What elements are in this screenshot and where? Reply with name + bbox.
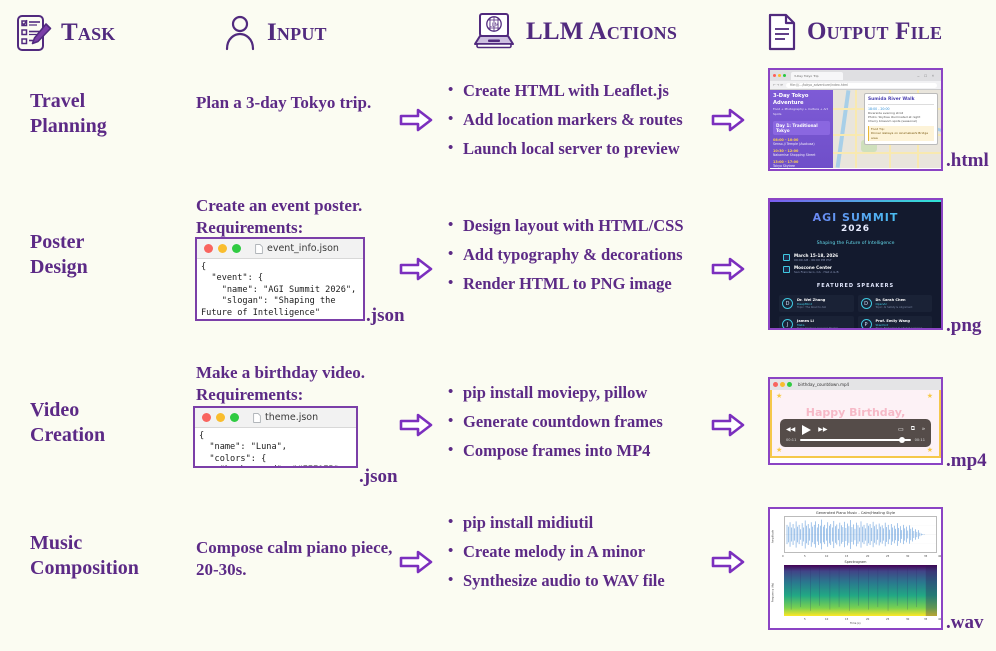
- action-item: Add location markers & routes: [447, 105, 737, 134]
- code-card-titlebar: event_info.json: [197, 239, 363, 259]
- arrow-right-icon: [399, 256, 433, 282]
- video-progress-knob[interactable]: [899, 437, 905, 443]
- action-item: Synthesize audio to WAV file: [447, 566, 737, 595]
- file-extension: .mp4: [946, 450, 987, 472]
- input-text: Plan a 3-day Tokyo trip.: [196, 92, 406, 114]
- itinerary-sidebar: 3-Day Tokyo Adventure Food + Photography…: [770, 90, 833, 168]
- close-dot-icon[interactable]: [204, 244, 213, 253]
- waveform-xtick: 15: [845, 555, 848, 558]
- popup-title: Sumida River Walk: [868, 97, 934, 105]
- slot-name: Tokyo Skytree: [773, 164, 830, 168]
- code-filename-wrap: theme.json: [253, 412, 318, 423]
- slot-name: Nakamise Shopping Street: [773, 153, 830, 157]
- arrow-right-icon: [711, 256, 745, 282]
- task-title: Music Composition: [30, 531, 210, 581]
- speaker-card: D Dr. Sarah Chen OpenAI Topic: AI Safety…: [858, 295, 933, 312]
- column-header-output-file-label: Output File: [807, 18, 942, 46]
- poster-meta-sub: 09:00 AM - 06:00 PM PST: [794, 258, 838, 262]
- poster-speakers-heading: FEATURED SPEAKERS: [770, 283, 941, 289]
- code-card-titlebar: theme.json: [195, 408, 356, 428]
- code-content: { "event": { "name": "AGI Summit 2026", …: [197, 259, 363, 321]
- task-title: Poster Design: [30, 230, 200, 280]
- spectrogram-xtick: 20: [866, 618, 869, 621]
- itinerary-title: 3-Day Tokyo Adventure: [773, 93, 830, 107]
- actions-list: Create HTML with Leaflet.js Add location…: [447, 76, 737, 163]
- file-extension: .html: [946, 150, 989, 172]
- waveform-xtick: 35: [924, 555, 927, 558]
- minimize-dot-icon[interactable]: [780, 382, 785, 387]
- video-frame[interactable]: ★ ★ ★ ★ Happy Birthday, ◀◀ ▶▶ ▭ ⧉ »: [770, 390, 941, 458]
- browser-tab[interactable]: 3-Day Tokyo Trip: [791, 72, 843, 80]
- browser-chrome: 3-Day Tokyo Trip – □ ×: [770, 70, 941, 81]
- output-thumbnail-png[interactable]: AGI SUMMIT 2026 Shaping the Future of In…: [768, 198, 943, 330]
- video-time-total: 00:11: [915, 438, 925, 442]
- star-icon: ★: [776, 392, 782, 400]
- maximize-dot-icon[interactable]: [230, 413, 239, 422]
- waveform-xtick: 0: [782, 555, 784, 558]
- file-extension: .json: [366, 305, 405, 327]
- code-card-event-info[interactable]: event_info.json { "event": { "name": "AG…: [195, 237, 365, 321]
- map-canvas[interactable]: Sumida River Walk 18:00 - 20:00 Riversid…: [833, 90, 941, 168]
- spectrogram-xlabel: Time (s): [850, 622, 861, 625]
- video-time-current: 00:11: [786, 438, 796, 442]
- input-text: Make a birthday video. Requirements:: [196, 362, 411, 406]
- json-file-icon: [253, 413, 261, 423]
- actions-list: Design layout with HTML/CSS Add typograp…: [447, 211, 737, 298]
- arrow-right-icon: [399, 107, 433, 133]
- speaker-card: J James Li Meta Topic: Scaling Language …: [779, 316, 854, 328]
- action-item: Add typography & decorations: [447, 240, 737, 269]
- speaker-card: P Prof. Emily Wang Stanford Topic: Embod…: [858, 316, 933, 328]
- poster-meta-sub: San Francisco, CA · Hall A & B: [794, 270, 839, 274]
- waveform-xtick: 40: [938, 555, 941, 558]
- laptop-brain-icon: LLM: [471, 10, 517, 54]
- action-item: pip install moviepy, pillow: [447, 378, 737, 407]
- poster-meta-row: Moscone Center San Francisco, CA · Hall …: [783, 265, 941, 274]
- document-lines-icon: [766, 12, 798, 52]
- maximize-dot-icon[interactable]: [232, 244, 241, 253]
- waveform-xtick: 30: [906, 555, 909, 558]
- cast-icon[interactable]: ⧉: [911, 426, 915, 433]
- svg-text:LLM: LLM: [489, 22, 499, 28]
- speaker-topic: Topic: Embodied AI / Robot Learning: [876, 327, 923, 328]
- spectrogram-xtick: 15: [845, 618, 848, 621]
- column-header-llm-actions-label: LLM Actions: [526, 18, 677, 46]
- action-item: pip install midiutil: [447, 508, 737, 537]
- video-caption: Happy Birthday,: [772, 406, 939, 419]
- spectrogram-xtick: 25: [886, 618, 889, 621]
- code-card-theme[interactable]: theme.json { "name": "Luna", "colors": {…: [193, 406, 358, 468]
- json-file-icon: [255, 244, 263, 254]
- itinerary-subtitle: Food + Photography + Culture + Art Spots: [773, 107, 830, 117]
- poster-meta-row: March 15-18, 2026 09:00 AM - 06:00 PM PS…: [783, 253, 941, 262]
- spectrogram-xtick: 40: [938, 618, 941, 621]
- input-text: Compose calm piano piece, 20-30s.: [196, 537, 406, 581]
- spectrogram-xtick: 5: [804, 618, 806, 621]
- video-progress-bar[interactable]: [800, 439, 910, 441]
- arrow-right-icon: [399, 549, 433, 575]
- code-filename: theme.json: [265, 412, 318, 423]
- star-icon: ★: [927, 392, 933, 400]
- waveform-xtick: 25: [886, 555, 889, 558]
- arrow-right-icon: [399, 412, 433, 438]
- avatar: D: [782, 298, 793, 309]
- code-filename: event_info.json: [267, 243, 339, 254]
- waveform-xtick: 5: [804, 555, 806, 558]
- rewind-icon[interactable]: ◀◀: [786, 426, 795, 433]
- map-view: 3-Day Tokyo Adventure Food + Photography…: [770, 90, 941, 168]
- column-header-input-label: Input: [267, 19, 327, 47]
- pip-icon[interactable]: ▭: [898, 426, 904, 433]
- column-headers: Task Input LLM LLM Actions: [0, 0, 996, 62]
- video-filename: birthday_countdown.mp4: [798, 382, 849, 387]
- action-item: Launch local server to preview: [447, 134, 737, 163]
- star-icon: ★: [927, 446, 933, 454]
- spectrogram-xtick: 30: [906, 618, 909, 621]
- person-icon: [222, 14, 258, 52]
- arrow-right-icon: [711, 549, 745, 575]
- waveform-plot: 1.0 0.5 0.0 -0.5 -1.0: [784, 516, 937, 553]
- action-item: Generate countdown frames: [447, 407, 737, 436]
- spectrogram-ylabel: Frequency (Hz): [772, 583, 775, 603]
- more-icon[interactable]: »: [922, 426, 925, 433]
- column-header-output-file: Output File: [766, 12, 942, 52]
- action-item: Design layout with HTML/CSS: [447, 211, 737, 240]
- speaker-topic: Topic: AI Safety & Alignment: [876, 306, 913, 309]
- video-window-titlebar: birthday_countdown.mp4: [770, 379, 941, 390]
- action-item: Create melody in A minor: [447, 537, 737, 566]
- speaker-card: D Dr. Wei Zhang DeepMind Topic: The Road…: [779, 295, 854, 312]
- output-thumbnail-wav[interactable]: Generated Piano Music - Calm/Healing Sty…: [768, 507, 943, 630]
- url-text: file:///.../tokyo_adventure/index.html: [786, 83, 937, 88]
- poster-slogan: Shaping the Future of Intelligence: [770, 241, 941, 246]
- actions-list: pip install midiutil Create melody in A …: [447, 508, 737, 595]
- maximize-dot-icon[interactable]: [787, 382, 792, 387]
- poster-speakers-grid: D Dr. Wei Zhang DeepMind Topic: The Road…: [779, 295, 932, 328]
- poster-year: 2026: [770, 224, 941, 234]
- star-icon: ★: [776, 446, 782, 454]
- calendar-icon: [783, 254, 790, 261]
- action-item: Compose frames into MP4: [447, 436, 737, 465]
- column-header-task: Task: [16, 14, 116, 52]
- avatar: P: [861, 319, 872, 328]
- waveform-ylabel: Amplitude: [772, 530, 775, 543]
- file-extension: .json: [359, 466, 398, 488]
- task-title: Video Creation: [30, 398, 200, 448]
- minimize-dot-icon[interactable]: [218, 244, 227, 253]
- play-icon[interactable]: [802, 425, 811, 435]
- spectrogram-xtick: 35: [924, 618, 927, 621]
- itinerary-slot: 08:00 - 10:00 Senso-ji Temple (Asakusa): [773, 138, 830, 146]
- minimize-dot-icon[interactable]: [216, 413, 225, 422]
- slot-name: Senso-ji Temple (Asakusa): [773, 142, 830, 146]
- close-dot-icon[interactable]: [773, 382, 778, 387]
- clipboard-checklist-pencil-icon: [16, 14, 52, 52]
- day-chip[interactable]: Day 1: Traditional Tokyo: [773, 121, 830, 135]
- action-item: Create HTML with Leaflet.js: [447, 76, 737, 105]
- workflow-figure: Task Input LLM LLM Actions: [0, 0, 996, 651]
- speaker-topic: Topic: Scaling Language Models: [797, 327, 838, 328]
- itinerary-slot: 13:00 - 17:00 Tokyo Skytree: [773, 160, 830, 168]
- arrow-right-icon: [711, 107, 745, 133]
- file-extension: .png: [946, 315, 981, 337]
- output-thumbnail-html[interactable]: 3-Day Tokyo Trip – □ × ← → ⟳ file:///...…: [768, 68, 943, 171]
- column-header-task-label: Task: [61, 19, 116, 47]
- itinerary-slot: 10:30 - 12:00 Nakamise Shopping Street: [773, 149, 830, 157]
- column-header-llm-actions: LLM LLM Actions: [471, 10, 677, 54]
- popup-tip-text: Dinner izakaya on Azumabashi Bridge area: [871, 131, 932, 139]
- speaker-topic: Topic: The Road to AGI: [797, 306, 826, 309]
- spectrogram-xtick: 10: [825, 618, 828, 621]
- close-dot-icon[interactable]: [202, 413, 211, 422]
- file-extension: .wav: [946, 612, 983, 634]
- action-item: Render HTML to PNG image: [447, 269, 737, 298]
- audio-analysis-plot: Generated Piano Music - Calm/Healing Sty…: [770, 509, 941, 628]
- poster-accent-line: [770, 200, 941, 202]
- input-text: Create an event poster. Requirements:: [196, 195, 411, 239]
- waveform-xtick: 20: [866, 555, 869, 558]
- popup-line: Cherry blossom spots (seasonal): [868, 119, 934, 123]
- popup-tip: Food Tip: Dinner izakaya on Azumabashi B…: [868, 126, 934, 142]
- forward-icon[interactable]: ▶▶: [818, 426, 827, 433]
- task-title: Travel Planning: [30, 89, 200, 139]
- spectrogram-plot: 20000 15000 10000 5000 0: [784, 565, 937, 616]
- actions-list: pip install moviepy, pillow Generate cou…: [447, 378, 737, 465]
- avatar: D: [861, 298, 872, 309]
- code-content: { "name": "Luna", "colors": { "backgroun…: [195, 428, 356, 468]
- poster-title: AGI SUMMIT: [770, 211, 941, 224]
- column-header-input: Input: [222, 14, 327, 52]
- waveform-xtick: 10: [825, 555, 828, 558]
- poster-preview: AGI SUMMIT 2026 Shaping the Future of In…: [770, 200, 941, 328]
- arrow-right-icon: [711, 412, 745, 438]
- code-filename-wrap: event_info.json: [255, 243, 339, 254]
- output-thumbnail-mp4[interactable]: birthday_countdown.mp4 ★ ★ ★ ★ Happy Bir…: [768, 377, 943, 465]
- video-controls[interactable]: ◀◀ ▶▶ ▭ ⧉ » 00:11 00:11: [780, 419, 931, 447]
- browser-address-bar[interactable]: ← → ⟳ file:///.../tokyo_adventure/index.…: [770, 81, 941, 90]
- location-icon: [783, 266, 790, 273]
- avatar: J: [782, 319, 793, 328]
- map-popup: Sumida River Walk 18:00 - 20:00 Riversid…: [864, 93, 938, 145]
